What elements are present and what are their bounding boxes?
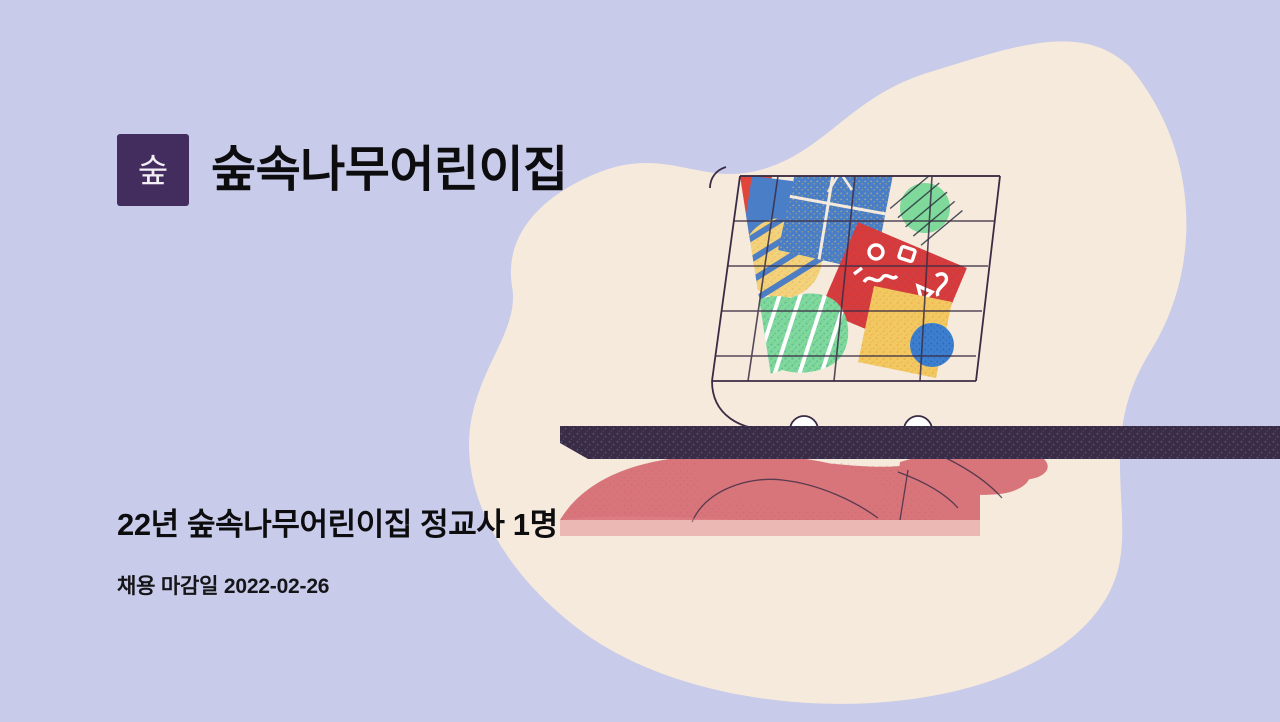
job-title: 22년 숲속나무어린이집 정교사 1명 bbox=[117, 508, 558, 542]
poster-text-layer: 숲 숲속나무어린이집 22년 숲속나무어린이집 정교사 1명 채용 마감일 20… bbox=[0, 0, 1280, 722]
poster-header: 숲 숲속나무어린이집 bbox=[117, 134, 568, 206]
organization-name: 숲속나무어린이집 bbox=[211, 146, 568, 195]
logo-glyph: 숲 bbox=[138, 154, 168, 187]
application-deadline: 채용 마감일 2022-02-26 bbox=[117, 575, 329, 598]
forest-logo-icon: 숲 bbox=[117, 134, 189, 206]
job-posting-poster: 숲 숲속나무어린이집 22년 숲속나무어린이집 정교사 1명 채용 마감일 20… bbox=[0, 0, 1280, 722]
